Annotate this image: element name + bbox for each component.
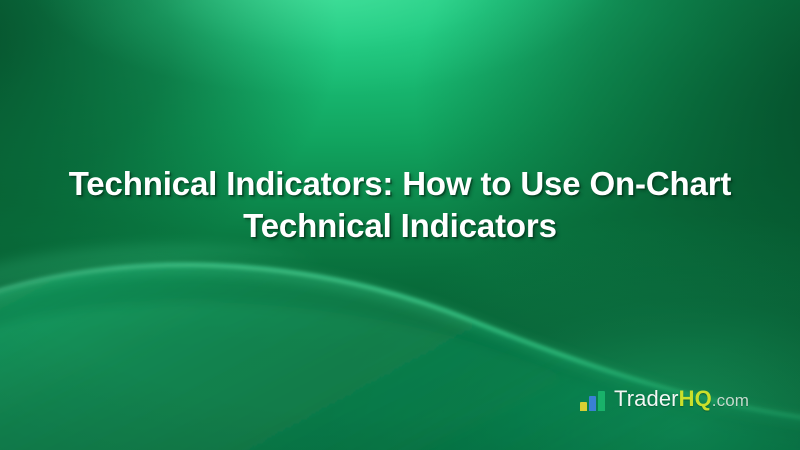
article-banner: Technical Indicators: How to Use On-Char…	[0, 0, 800, 450]
logo-wordmark: TraderHQ.com	[614, 388, 749, 412]
bar-blue-icon	[589, 396, 596, 411]
logo-text-com: .com	[712, 391, 749, 410]
logo-text-trader: Trader	[614, 386, 679, 411]
logo-text-hq: HQ	[679, 386, 712, 411]
title-container: Technical Indicators: How to Use On-Char…	[0, 163, 800, 247]
bar-chart-icon	[580, 391, 605, 411]
bar-green-icon	[598, 391, 605, 411]
page-title: Technical Indicators: How to Use On-Char…	[60, 163, 740, 247]
bar-yellow-icon	[580, 402, 587, 411]
traderhq-logo[interactable]: TraderHQ.com	[580, 388, 749, 412]
